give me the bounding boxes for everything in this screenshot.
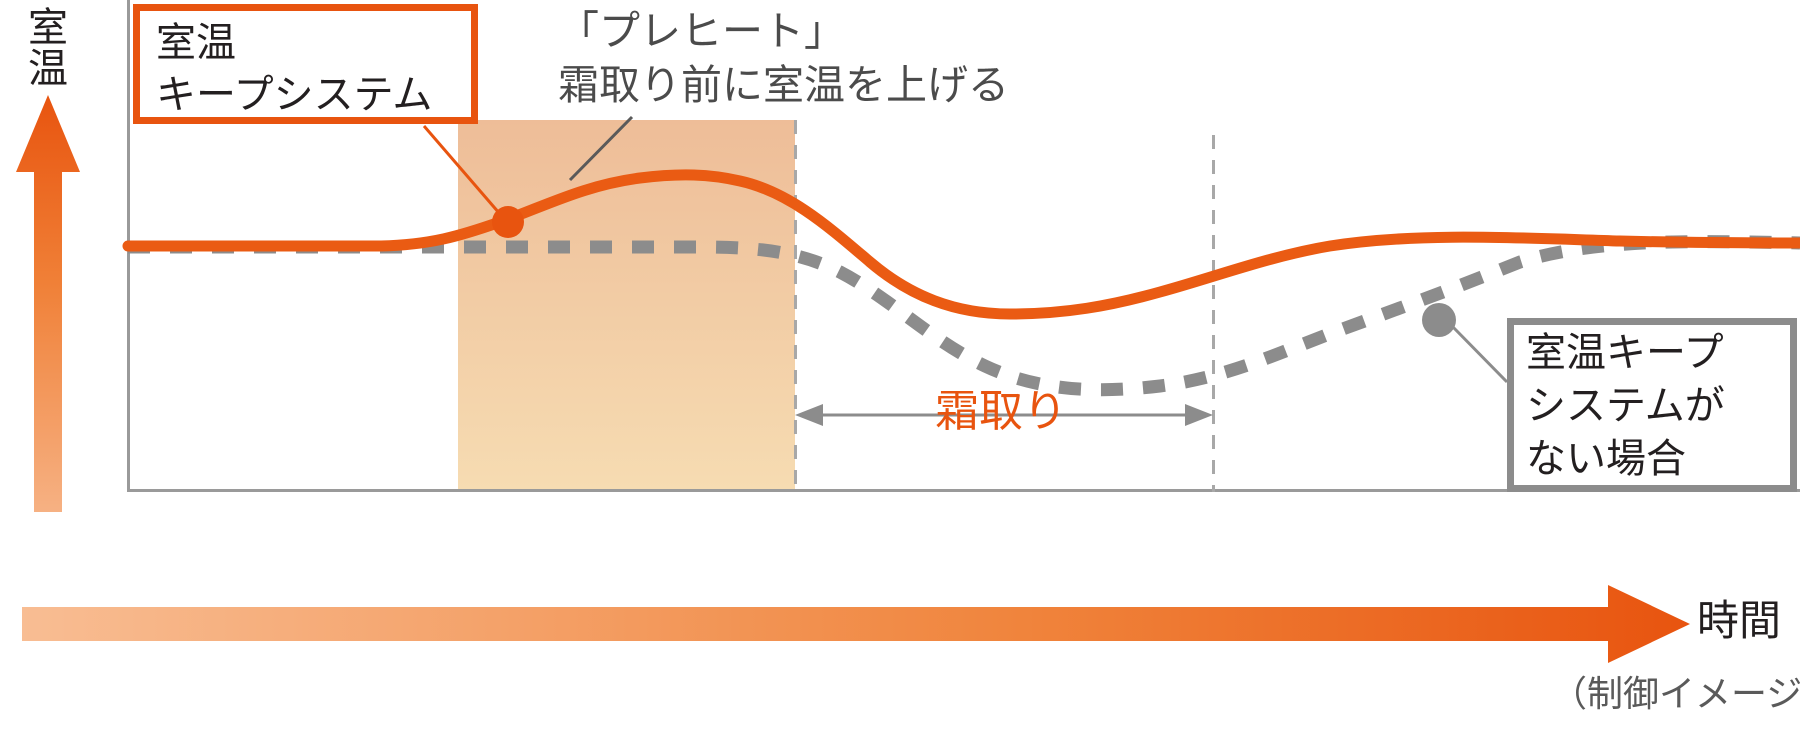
callout-no-keep-system-line3: ない場合 [1526, 433, 1786, 486]
callout-keep-system-line2: キープシステム [156, 69, 459, 121]
x-axis-label: 時間 [1697, 600, 1781, 642]
no-keep-system-leader-line [1452, 326, 1507, 382]
figure-caption: （制御イメージ） [1551, 676, 1800, 712]
y-axis-label: 室温 [8, 6, 64, 88]
annotation-preheat-line1: 「プレヒート」 [558, 4, 1009, 58]
no-keep-system-point-marker [1422, 303, 1456, 337]
annotation-preheat: 「プレヒート」 霜取り前に室温を上げる [558, 4, 1009, 112]
annotation-preheat-line2: 霜取り前に室温を上げる [558, 58, 1009, 112]
defrost-label: 霜取り [935, 390, 1067, 434]
callout-no-keep-system-line1: 室温キープ [1526, 327, 1786, 380]
callout-no-keep-system-line2: システムが [1526, 380, 1786, 433]
callout-keep-system[interactable]: 室温 キープシステム [133, 4, 478, 124]
x-axis-arrow-icon [22, 585, 1690, 663]
figure-canvas: 室温 室温 キープシステム 「プレヒート」 霜取り前に室温を上げる 霜取り 室温… [0, 0, 1800, 740]
curve-keep-system [128, 175, 1800, 314]
callout-keep-system-line1: 室温 [156, 17, 459, 69]
y-axis-arrow-icon [16, 95, 80, 512]
callout-no-keep-system[interactable]: 室温キープ システムが ない場合 [1507, 318, 1797, 492]
